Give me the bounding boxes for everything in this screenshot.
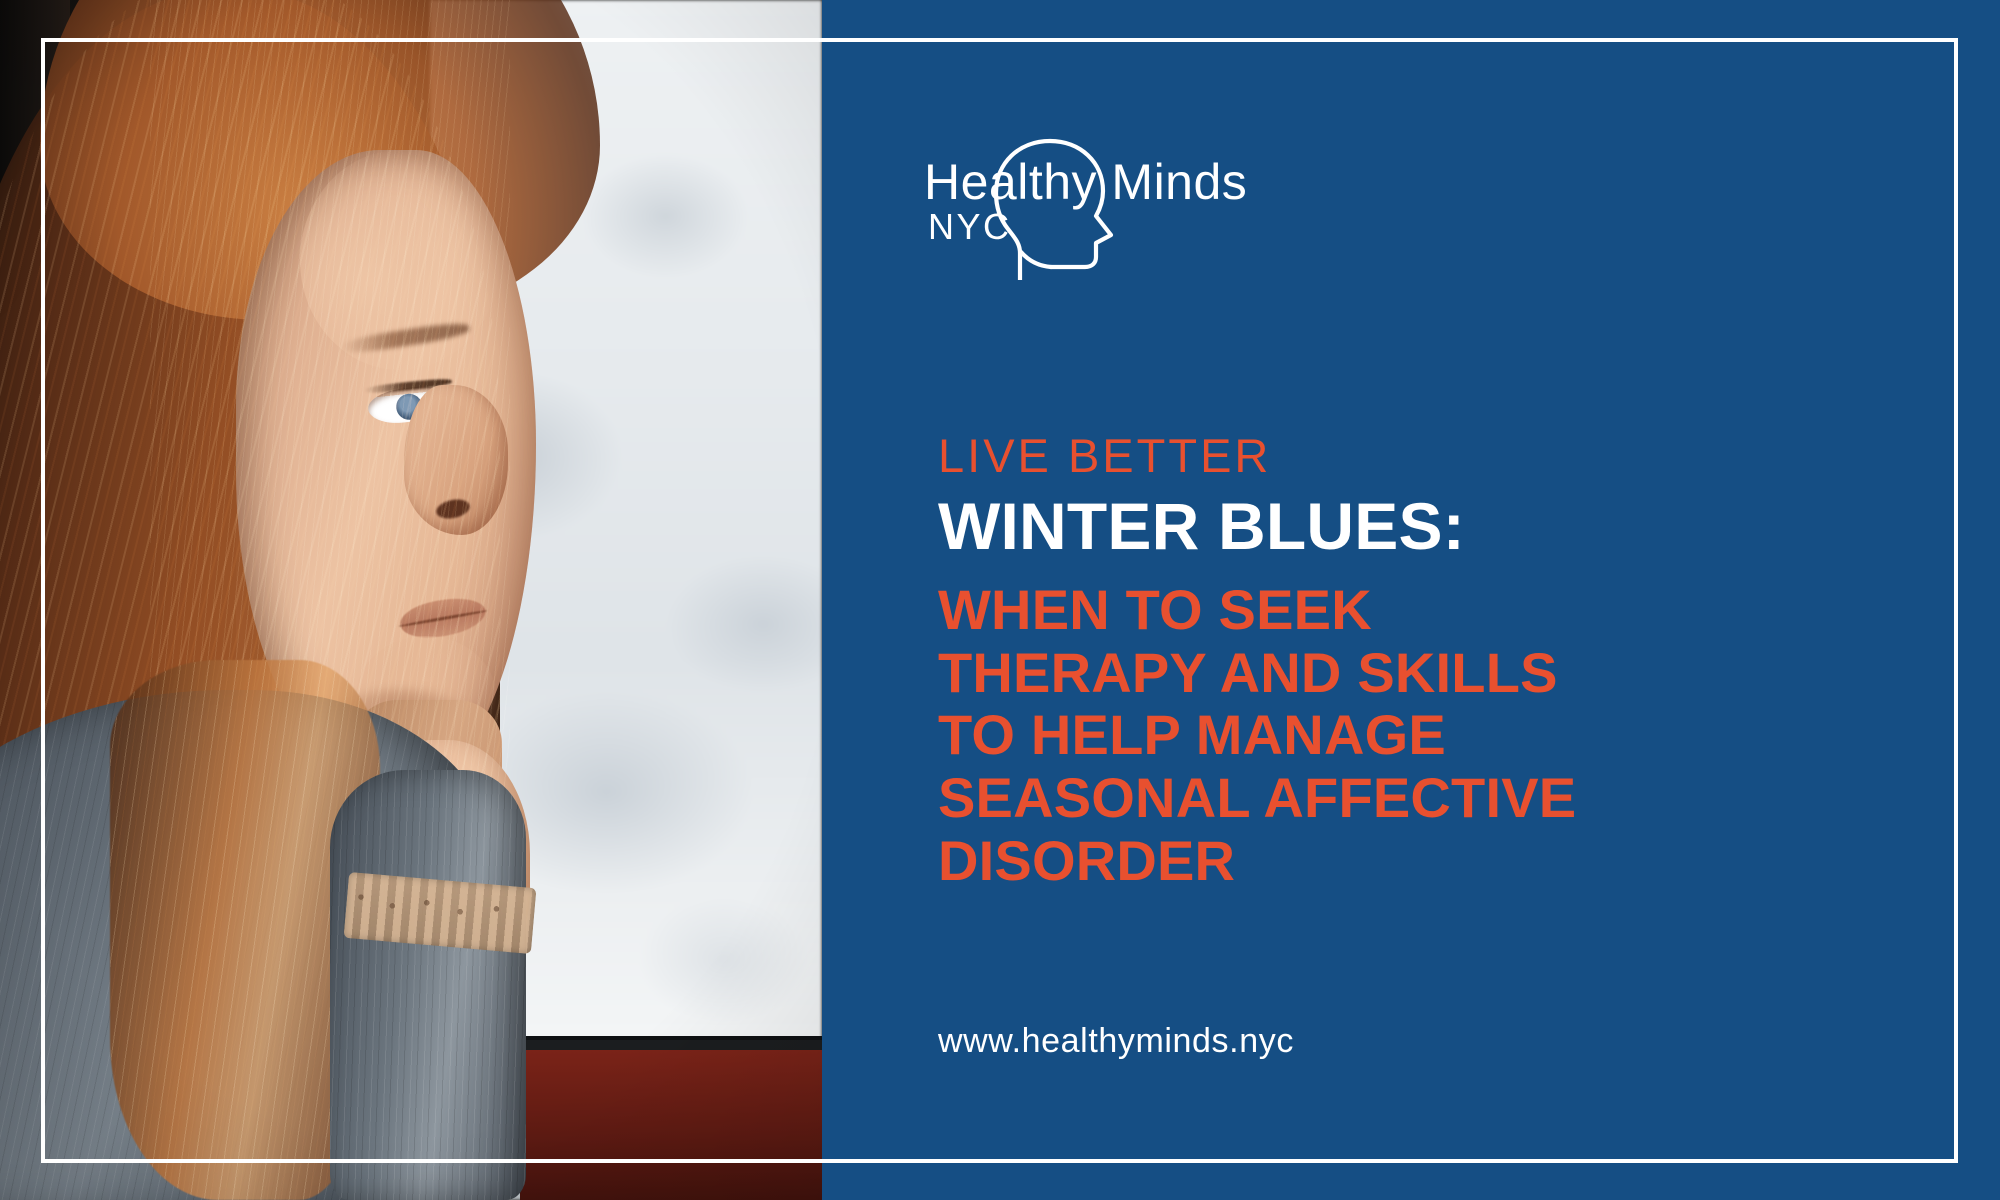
subheadline-line: SEASONAL AFFECTIVE — [938, 767, 1738, 830]
website-url[interactable]: www.healthyminds.nyc — [938, 1022, 1294, 1061]
logo-wordmark-secondary: NYC — [928, 206, 1012, 247]
subheadline-text: WHEN TO SEEK THERAPY AND SKILLS TO HELP … — [938, 579, 1738, 893]
subheadline-line: TO HELP MANAGE — [938, 704, 1738, 767]
promo-poster: Healthy Minds NYC LIVE BETTER WINTER BLU… — [0, 0, 2000, 1200]
subheadline-line: WHEN TO SEEK — [938, 579, 1738, 642]
logo[interactable]: Healthy Minds NYC — [920, 135, 1250, 280]
headline-block: LIVE BETTER WINTER BLUES: WHEN TO SEEK T… — [938, 432, 1738, 893]
subheadline-line: DISORDER — [938, 830, 1738, 893]
photo-vignette — [0, 0, 822, 1200]
kicker-text: LIVE BETTER — [938, 432, 1738, 479]
photo-stage — [0, 0, 822, 1200]
headline-text: WINTER BLUES: — [938, 493, 1738, 559]
logo-wordmark-primary: Healthy Minds — [924, 154, 1247, 210]
subheadline-line: THERAPY AND SKILLS — [938, 642, 1738, 705]
hero-photo — [0, 0, 822, 1200]
